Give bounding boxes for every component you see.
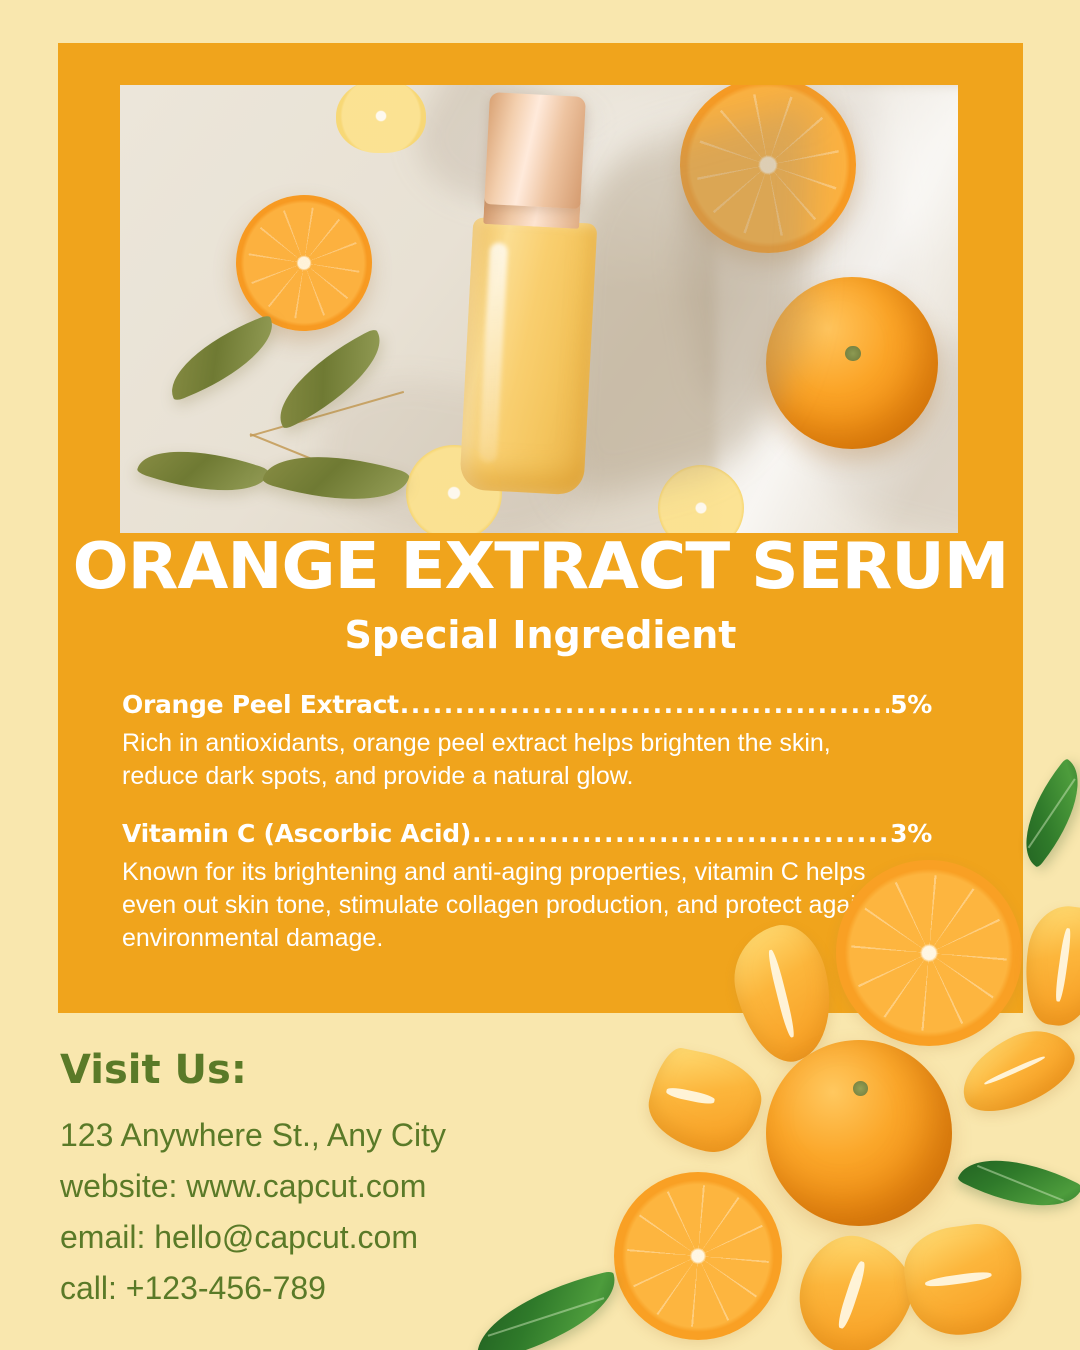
orange-navel (845, 346, 860, 361)
ingredient-header: Orange Peel Extract ....................… (122, 690, 932, 719)
decor-orange-wedge (785, 1224, 925, 1350)
decor-leaf (957, 1135, 1080, 1231)
serum-bottle (454, 91, 628, 518)
leaf-vein (977, 1165, 1064, 1202)
page-subtitle: Special Ingredient (58, 612, 1023, 658)
decor-orange-wedge (899, 1218, 1029, 1341)
pale-citrus-slice (336, 85, 426, 153)
bottle-cap (484, 92, 586, 209)
website-line[interactable]: website: www.capcut.com (60, 1161, 620, 1212)
wedge-pith (666, 1086, 715, 1105)
orange-segments (851, 875, 1007, 1031)
ingredient-header: Vitamin C (Ascorbic Acid) ..............… (122, 819, 932, 848)
ingredient-name: Orange Peel Extract (122, 690, 399, 719)
wedge-pith (1054, 927, 1072, 1002)
phone-line[interactable]: call: +123-456-789 (60, 1263, 620, 1314)
poster-canvas: ORANGE EXTRACT SERUM Special Ingredient … (0, 0, 1080, 1350)
leader-dots: ........................................… (400, 690, 889, 719)
decor-orange-slice (836, 860, 1022, 1046)
wedge-pith (766, 949, 797, 1038)
hero-product-photo (120, 85, 958, 533)
address-line: 123 Anywhere St., Any City (60, 1110, 620, 1161)
ingredient-percent: 5% (890, 690, 932, 719)
wedge-pith (924, 1270, 992, 1289)
decor-orange-wedge (641, 1044, 769, 1161)
contact-block: Visit Us: 123 Anywhere St., Any City web… (60, 1046, 620, 1314)
wedge-pith (836, 1260, 868, 1330)
leaf-vein (1028, 778, 1076, 848)
orange-segments (627, 1185, 768, 1326)
ingredient-item: Vitamin C (Ascorbic Acid) ..............… (122, 819, 932, 955)
decor-orange-slice (614, 1172, 782, 1340)
orange-navel (853, 1081, 868, 1096)
orange-segments (241, 200, 367, 326)
ingredient-item: Orange Peel Extract ....................… (122, 690, 932, 793)
leader-dots: ........................................… (472, 819, 889, 848)
ingredient-list: Orange Peel Extract ....................… (122, 690, 932, 981)
wedge-pith (983, 1055, 1046, 1087)
ingredient-name: Vitamin C (Ascorbic Acid) (122, 819, 471, 848)
decor-orange-wedge (1018, 901, 1080, 1030)
ingredient-description: Rich in antioxidants, orange peel extrac… (122, 727, 912, 793)
page-title: ORANGE EXTRACT SERUM (44, 534, 1038, 600)
visit-us-heading: Visit Us: (60, 1046, 620, 1094)
ingredient-percent: 3% (890, 819, 932, 848)
decor-whole-orange (766, 1040, 952, 1226)
email-line[interactable]: email: hello@capcut.com (60, 1212, 620, 1263)
